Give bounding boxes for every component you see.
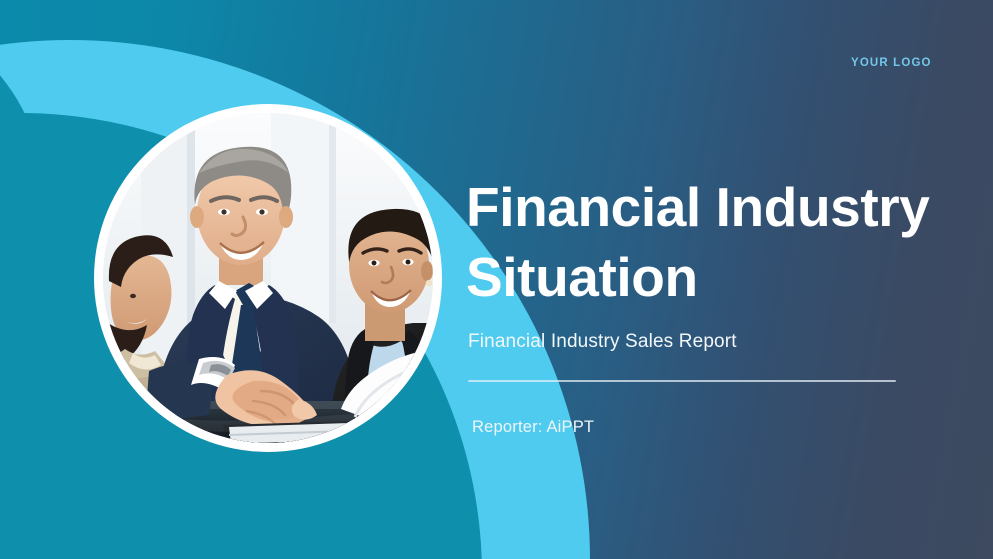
teal-disc-top (0, 5, 45, 395)
hero-photo-circle (94, 104, 442, 452)
subtitle: Financial Industry Sales Report (468, 331, 737, 353)
logo-text[interactable]: YOUR LOGO (851, 57, 932, 69)
title-slide: YOUR LOGO Financial Industry Situation F… (0, 0, 993, 559)
page-title: Financial Industry Situation (466, 172, 986, 312)
hero-photo (103, 113, 433, 443)
reporter-label: Reporter: AiPPT (472, 418, 594, 437)
divider-line (468, 380, 896, 382)
